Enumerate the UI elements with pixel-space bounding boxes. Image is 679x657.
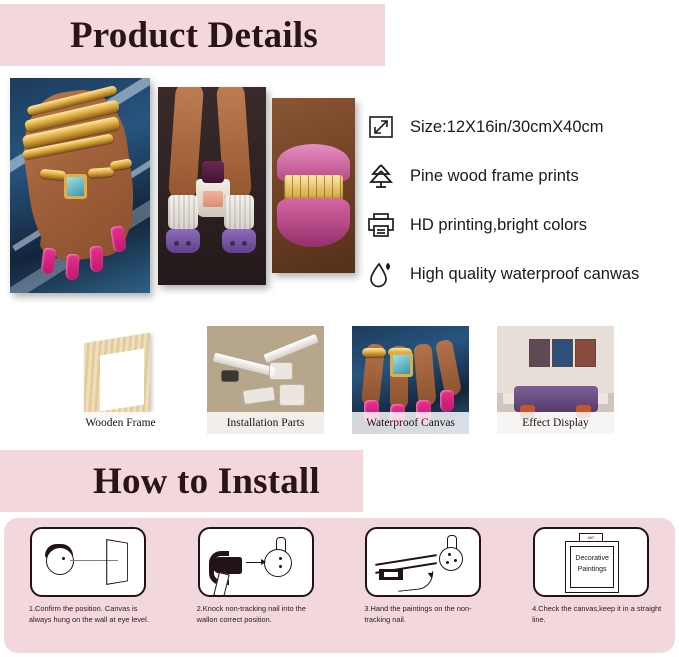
install-step-text: 4.Check the canvas,keep it in a straight… — [518, 604, 664, 625]
product-details-heading-band: Product Details — [0, 4, 385, 66]
straight-line-icon: 180° Decorative Paintings — [533, 527, 649, 597]
pine-tree-icon — [366, 161, 396, 191]
install-step-4: 180° Decorative Paintings 4.Check the ca… — [516, 527, 666, 653]
install-step-3: 3.Hand the paintings on the non-tracking… — [348, 527, 498, 653]
thumbnail-wooden-frame[interactable]: Wooden Frame — [62, 326, 179, 434]
feature-label: Size:12X16in/30cmX40cm — [410, 118, 604, 137]
water-drop-icon — [366, 259, 396, 289]
thumbnail-caption: Effect Display — [497, 412, 614, 434]
panel-hand-artwork — [10, 78, 150, 293]
canvas-panel-hand — [10, 78, 150, 293]
canvas-panel-legs — [158, 87, 266, 285]
feature-item-frame: Pine wood frame prints — [366, 161, 676, 191]
resize-icon — [366, 112, 396, 142]
thumbnail-installation-parts[interactable]: Installation Parts — [207, 326, 324, 434]
thumbnail-caption: Installation Parts — [207, 412, 324, 434]
decorative-paintings-label: Decorative Paintings — [566, 554, 618, 575]
page-title: Product Details — [70, 14, 318, 57]
feature-label: HD printing,bright colors — [410, 216, 587, 235]
product-hero-canvas-set — [10, 78, 355, 298]
install-step-text: 2.Knock non-tracking nail into the wallo… — [183, 604, 329, 625]
panel-lips-artwork — [272, 98, 355, 273]
feature-label: Pine wood frame prints — [410, 167, 579, 186]
install-step-2: 2.Knock non-tracking nail into the wallo… — [181, 527, 331, 653]
feature-item-size: Size:12X16in/30cmX40cm — [366, 112, 676, 142]
hammer-nail-icon — [198, 527, 314, 597]
install-step-text: 3.Hand the paintings on the non-tracking… — [350, 604, 496, 625]
thumbnail-caption: Wooden Frame — [62, 412, 179, 434]
thumbnail-caption: Waterproof Canvas — [352, 412, 469, 434]
install-step-text: 1.Confirm the position. Canvas is always… — [15, 604, 161, 625]
printer-icon — [366, 210, 396, 240]
thumbnail-effect-display[interactable]: Effect Display — [497, 326, 614, 434]
feature-item-printing: HD printing,bright colors — [366, 210, 676, 240]
thumbnail-waterproof-canvas[interactable]: Waterproof Canvas — [352, 326, 469, 434]
install-step-1: 1.Confirm the position. Canvas is always… — [13, 527, 163, 653]
eye-level-icon — [30, 527, 146, 597]
install-instructions-panel: 1.Confirm the position. Canvas is always… — [4, 518, 675, 653]
feature-label: High quality waterproof canwas — [410, 265, 639, 284]
panel-legs-artwork — [158, 87, 266, 285]
detail-thumbnail-row: Wooden Frame Installation Parts Waterpr — [62, 326, 637, 436]
canvas-panel-lips — [272, 98, 355, 273]
section-title: How to Install — [93, 460, 320, 503]
product-feature-list: Size:12X16in/30cmX40cm Pine wood frame p… — [366, 112, 676, 289]
hang-painting-icon — [365, 527, 481, 597]
how-to-install-heading-band: How to Install — [0, 450, 363, 512]
feature-item-waterproof: High quality waterproof canwas — [366, 259, 676, 289]
